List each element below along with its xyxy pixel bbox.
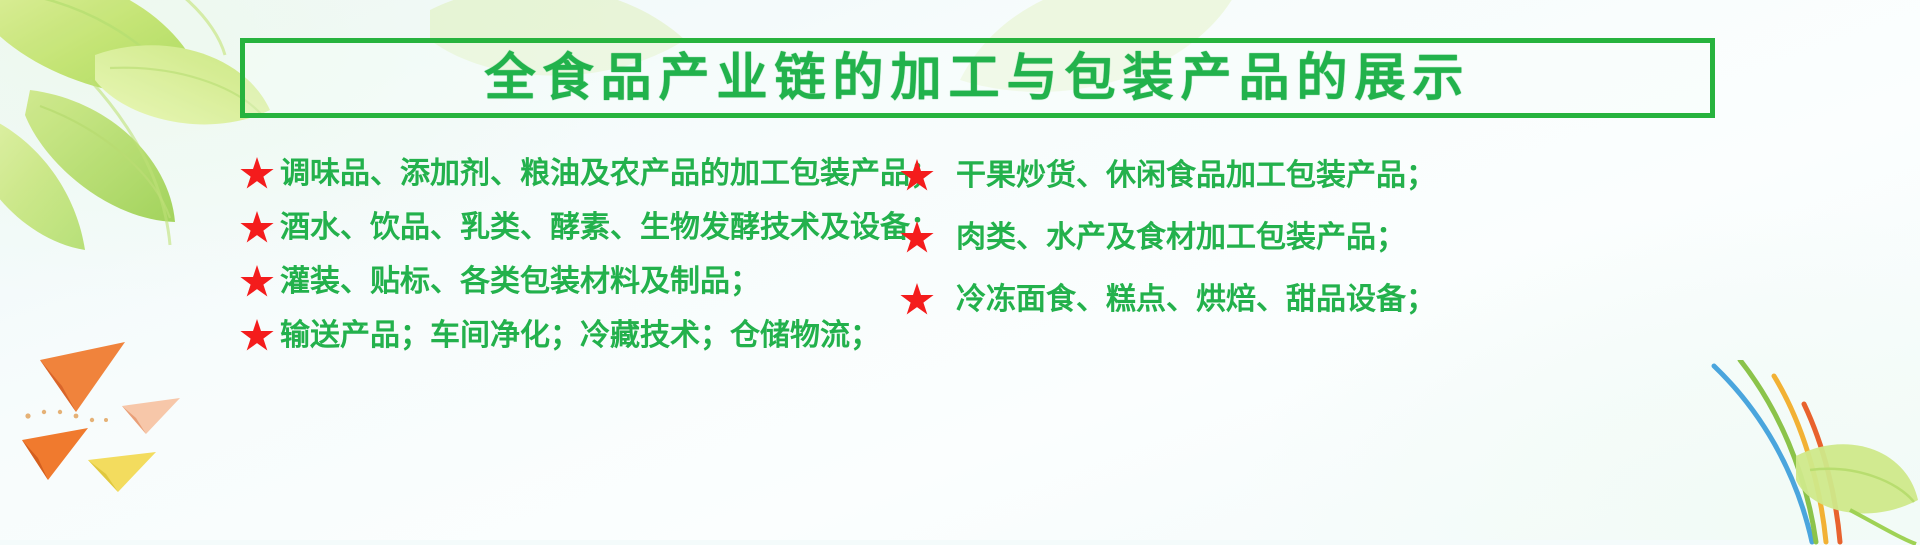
list-item-label: 灌装、贴标、各类包装材料及制品； [280,267,760,297]
list-item[interactable]: 灌装、贴标、各类包装材料及制品； [240,256,940,308]
bullet-columns: 调味品、添加剂、粮油及农产品的加工包装产品； 酒水、饮品、乳类、酵素、生物发酵技… [240,148,1720,398]
list-item[interactable]: 输送产品；车间净化；冷藏技术；仓储物流； [240,310,940,362]
list-item-label: 酒水、饮品、乳类、酵素、生物发酵技术及设备； [280,213,940,243]
title-box: 全食品产业链的加工与包装产品的展示 [240,38,1715,118]
banner-root: 全食品产业链的加工与包装产品的展示 调味品、添加剂、粮油及农产品的加工包装产品；… [0,0,1920,540]
bullet-column-right: 干果炒货、休闲食品加工包装产品； 肉类、水产及食材加工包装产品； 冷冻面食、糕点… [900,148,1660,334]
list-item-label: 干果炒货、休闲食品加工包装产品； [956,161,1436,191]
list-item[interactable]: 肉类、水产及食材加工包装产品； [900,210,1660,266]
bullet-column-left: 调味品、添加剂、粮油及农产品的加工包装产品； 酒水、饮品、乳类、酵素、生物发酵技… [240,148,940,364]
red-star-icon [240,157,274,191]
red-star-icon [240,265,274,299]
colored-pencil-decoration [1700,360,1920,545]
list-item[interactable]: 冷冻面食、糕点、烘焙、甜品设备； [900,272,1660,328]
list-item[interactable]: 干果炒货、休闲食品加工包装产品； [900,148,1660,204]
list-item-label: 调味品、添加剂、粮油及农产品的加工包装产品； [280,159,940,189]
red-star-icon [900,221,934,255]
list-item[interactable]: 调味品、添加剂、粮油及农产品的加工包装产品； [240,148,940,200]
list-item-label: 肉类、水产及食材加工包装产品； [956,223,1406,253]
red-star-icon [900,283,934,317]
list-item-label: 输送产品；车间净化；冷藏技术；仓储物流； [280,321,880,351]
red-star-icon [240,319,274,353]
red-star-icon [240,211,274,245]
list-item-label: 冷冻面食、糕点、烘焙、甜品设备； [956,285,1436,315]
paper-plane-decoration [10,320,250,520]
page-title: 全食品产业链的加工与包装产品的展示 [484,53,1470,104]
red-star-icon [900,159,934,193]
list-item[interactable]: 酒水、饮品、乳类、酵素、生物发酵技术及设备； [240,202,940,254]
